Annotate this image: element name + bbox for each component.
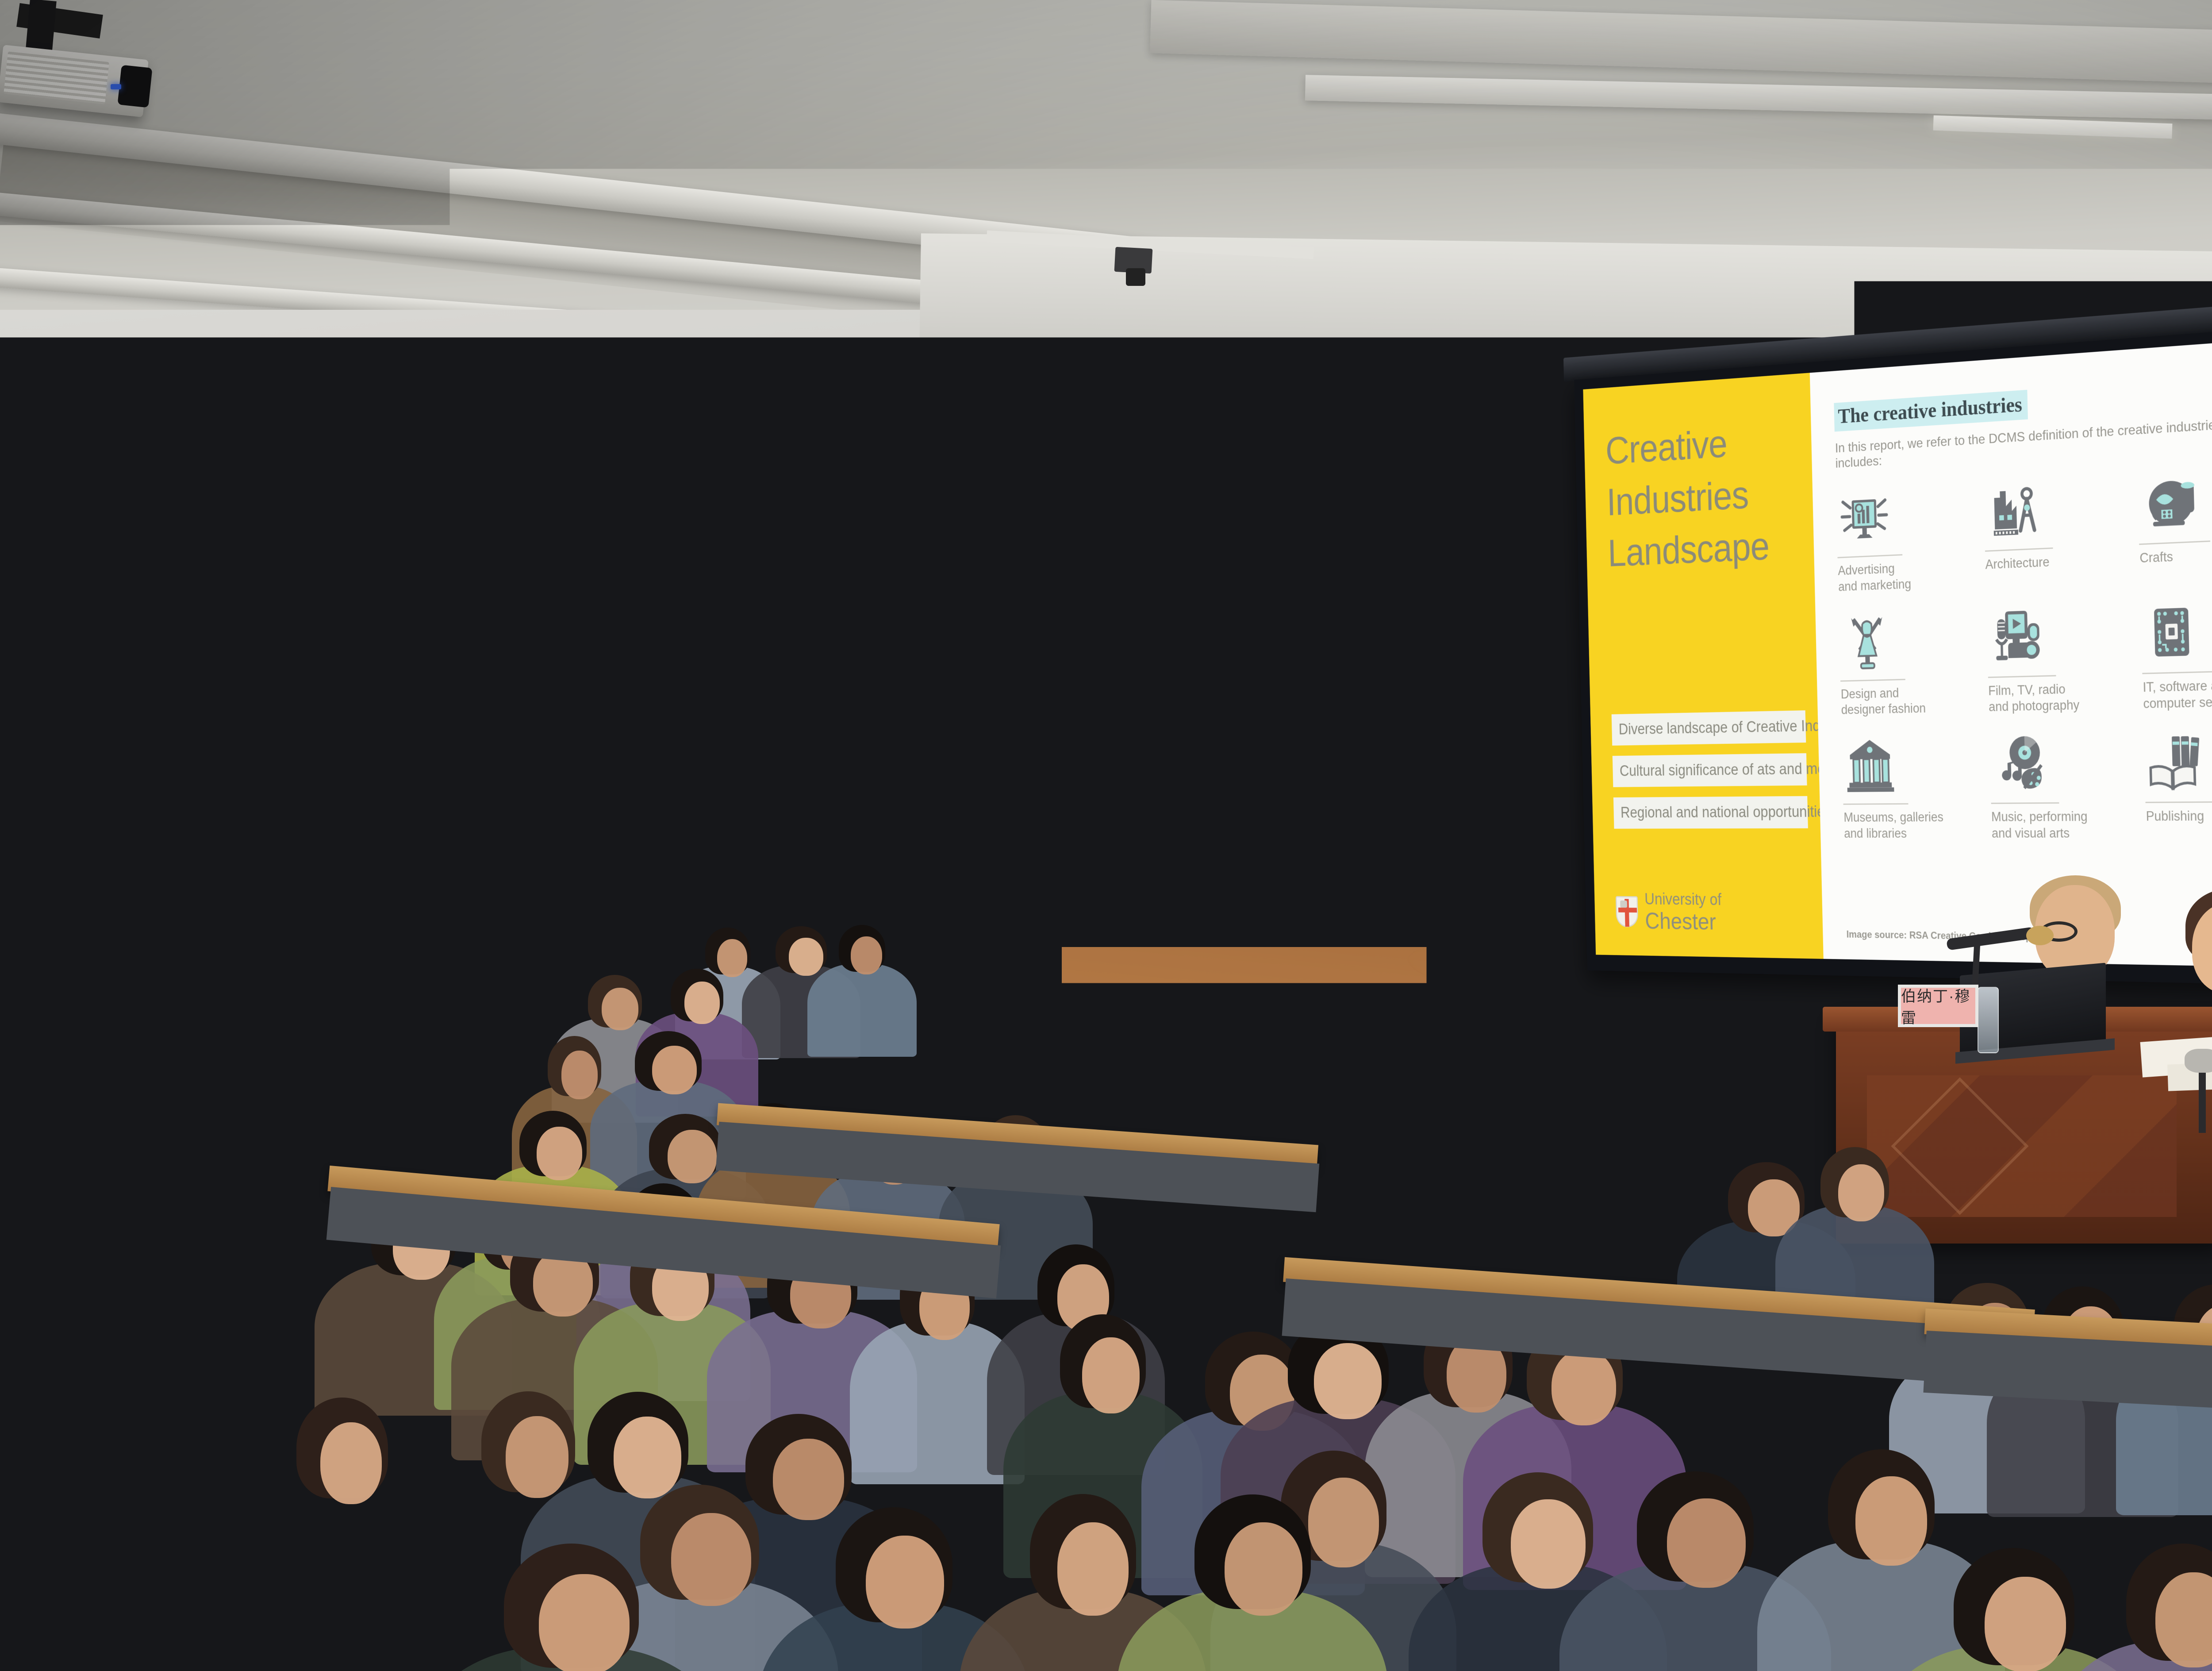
slide-left-panel: Creative Industries Landscape Diverse la… bbox=[1583, 373, 1823, 959]
audience-member-head bbox=[220, 896, 248, 931]
wall-notice-poster bbox=[1152, 673, 1188, 766]
audience-member-head bbox=[451, 1048, 491, 1097]
slide-reflection-text: CreativeIndustriesLandscape bbox=[695, 457, 862, 694]
poster-header bbox=[1236, 676, 1269, 697]
wall-speaker bbox=[438, 438, 522, 551]
industry-cell-music: Music, performingand visual arts bbox=[1989, 727, 2147, 842]
audience-member-head bbox=[717, 939, 748, 977]
industry-cell-museums: Museums, galleriesand libraries bbox=[1842, 730, 1992, 842]
cell-divider bbox=[1988, 675, 2056, 678]
audience-member-head bbox=[635, 938, 664, 976]
audience-member-head bbox=[159, 906, 185, 941]
industry-cell-film: Film, TV, radioand photography bbox=[1986, 598, 2143, 715]
cell-divider bbox=[1840, 679, 1905, 681]
poster-header bbox=[1154, 674, 1187, 696]
cell-divider bbox=[1985, 547, 2053, 552]
audience-member-head bbox=[602, 988, 638, 1030]
poster-body-text bbox=[1193, 696, 1225, 754]
audience-member-head bbox=[1355, 1040, 1395, 1086]
university-logo: University of Chester bbox=[1616, 891, 1722, 934]
slide-bullet-2: Cultural significance of ats and media bbox=[1613, 753, 1807, 787]
audience-member-head bbox=[1082, 1337, 1140, 1413]
creative-industries-grid: Advertisingand marketing bbox=[1836, 460, 2212, 842]
architecture-compass-icon bbox=[1983, 474, 2043, 544]
lecture-hall-scene: HiVi CreativeIndustriesLandscape bbox=[0, 0, 2212, 1671]
audience-member-head bbox=[1551, 1349, 1616, 1425]
presentation-slide: Creative Industries Landscape Diverse la… bbox=[1583, 335, 2212, 968]
logo-line-2: Chester bbox=[1645, 909, 1722, 934]
audience-member-head bbox=[539, 1574, 630, 1671]
screen-bezel: Creative Industries Landscape Diverse la… bbox=[1574, 323, 2212, 986]
audience-member-head bbox=[117, 988, 151, 1030]
industry-label-it: IT, software andcomputer services bbox=[2143, 677, 2212, 712]
audience-member-head bbox=[271, 982, 303, 1024]
audience-member-head bbox=[789, 938, 823, 976]
industry-cell-it: IT, software andcomputer services bbox=[2141, 592, 2212, 712]
audience-member-head bbox=[0, 1197, 53, 1260]
university-logo-text: University of Chester bbox=[1644, 891, 1722, 934]
cell-divider bbox=[2139, 540, 2211, 545]
poster-inner-panel bbox=[1278, 709, 1306, 763]
audience-member-head bbox=[1314, 1343, 1382, 1419]
audience-member-head bbox=[773, 1439, 844, 1521]
industry-label-music: Music, performingand visual arts bbox=[1991, 809, 2088, 842]
shield-cross-horizontal bbox=[1618, 908, 1637, 913]
audience-member-head bbox=[319, 894, 349, 929]
audience-member-head bbox=[1235, 1038, 1274, 1084]
audience-member-head bbox=[353, 986, 388, 1029]
poster-header bbox=[1193, 674, 1225, 696]
audience-member-body bbox=[1299, 1073, 1439, 1184]
audience-member-head bbox=[652, 1046, 697, 1094]
audience-member-head bbox=[1985, 1577, 2066, 1671]
publishing-books-icon bbox=[2144, 726, 2207, 795]
audience-member-head bbox=[668, 1130, 717, 1183]
cell-divider bbox=[2143, 671, 2212, 674]
audience-member-head bbox=[1308, 1478, 1379, 1567]
wall-award-poster bbox=[1273, 674, 1310, 769]
audience-member-head bbox=[866, 1536, 944, 1629]
audience-member-head bbox=[172, 1408, 233, 1490]
industry-label-design: Design anddesigner fashion bbox=[1840, 684, 1926, 718]
audience-member-head bbox=[255, 1198, 308, 1261]
audience-member-head bbox=[1855, 1476, 1927, 1566]
audience-member-head bbox=[104, 903, 133, 938]
advertising-chart-screen-icon bbox=[1836, 483, 1893, 551]
cell-divider bbox=[1838, 554, 1903, 558]
industry-cell-publishing: Publishing bbox=[2144, 724, 2212, 842]
audience-member-head bbox=[1057, 1522, 1129, 1616]
cell-divider bbox=[1991, 802, 2059, 804]
audience-member-head bbox=[173, 1049, 214, 1098]
audience-member-body bbox=[807, 964, 916, 1057]
logo-line-1: University of bbox=[1644, 891, 1722, 908]
audience-member-head bbox=[1114, 1047, 1154, 1092]
audience-member-head bbox=[249, 1061, 291, 1109]
slide-bullet-1: Diverse landscape of Creative Industries bbox=[1612, 710, 1806, 746]
cell-divider bbox=[2146, 801, 2212, 803]
industry-label-architecture: Architecture bbox=[1985, 554, 2050, 573]
water-bottle[interactable] bbox=[1978, 987, 1999, 1053]
window-pane bbox=[117, 420, 219, 606]
audience-member-head bbox=[1838, 1164, 1884, 1221]
industry-cell-advertising: Advertisingand marketing bbox=[1836, 477, 1986, 595]
audience-member-head bbox=[684, 982, 720, 1024]
audience-member-head bbox=[518, 981, 551, 1023]
audience-member-head bbox=[426, 985, 458, 1028]
slide-title: Creative Industries Landscape bbox=[1605, 413, 1793, 579]
microphone-head bbox=[2185, 1049, 2212, 1073]
film-camera-microphone-icon bbox=[1986, 601, 2046, 670]
window-pane bbox=[117, 615, 219, 881]
chester-shield-icon bbox=[1616, 896, 1638, 928]
industry-label-publishing: Publishing bbox=[2146, 808, 2204, 825]
audience-member-head bbox=[448, 936, 476, 974]
music-note-palette-icon bbox=[1989, 729, 2049, 796]
audience-member-head bbox=[1511, 1499, 1586, 1589]
purple-curtain bbox=[230, 389, 416, 912]
audience-member-head bbox=[320, 1422, 382, 1504]
audience-member-head bbox=[27, 1575, 115, 1671]
audience-member-head bbox=[64, 1048, 103, 1097]
window-pane bbox=[13, 420, 108, 606]
slide-title-line-2: Industries bbox=[1606, 466, 1792, 528]
window-sill bbox=[0, 867, 239, 883]
audience-member-head bbox=[851, 936, 882, 974]
projection-screen: Creative Industries Landscape Diverse la… bbox=[1574, 323, 2212, 986]
audience-member-head bbox=[37, 897, 66, 932]
it-microchip-icon bbox=[2141, 596, 2204, 666]
creative-industries-heading: The creative industries bbox=[1834, 390, 2028, 432]
audience-member-head bbox=[358, 1047, 401, 1096]
audience-member-head bbox=[671, 1513, 751, 1606]
industry-cell-crafts: Crafts bbox=[2137, 460, 2212, 584]
purple-curtain bbox=[513, 389, 690, 956]
slide-right-panel: The creative industries In this report, … bbox=[1810, 335, 2212, 968]
audience-member-head bbox=[194, 987, 229, 1030]
audience-member-head bbox=[29, 985, 63, 1027]
audience-member-head bbox=[1532, 1167, 1580, 1224]
microphone-head bbox=[2026, 926, 2054, 945]
slide-title-line-3: Landscape bbox=[1607, 519, 1793, 579]
crafts-pottery-icon bbox=[2137, 466, 2200, 537]
wall-notice-poster bbox=[1234, 674, 1271, 768]
audience-member-head bbox=[506, 1416, 569, 1498]
audience-member-head bbox=[537, 1127, 582, 1180]
industry-label-film: Film, TV, radioand photography bbox=[1988, 681, 2080, 715]
speaker-name-card: 伯纳丁·穆雷 bbox=[1898, 985, 1978, 1027]
wall-notice-poster bbox=[1191, 673, 1227, 766]
design-mannequin-icon bbox=[1839, 607, 1896, 674]
audience-member-head bbox=[614, 1417, 681, 1498]
poster-body-text bbox=[1154, 696, 1187, 754]
camera-lens bbox=[1126, 268, 1145, 286]
microphone-stem bbox=[2199, 1067, 2206, 1133]
speaker-mount-bracket bbox=[484, 549, 515, 575]
industry-label-museums: Museums, galleriesand libraries bbox=[1843, 809, 1944, 842]
museum-building-icon bbox=[1842, 731, 1899, 797]
industry-cell-design: Design anddesigner fashion bbox=[1839, 604, 1989, 718]
projector-power-led bbox=[111, 84, 121, 89]
audience-member-head bbox=[150, 1200, 204, 1263]
door-glass-panel[interactable]: CreativeIndustriesLandscape bbox=[690, 451, 867, 699]
slide-bullet-3: Regional and national opportunities bbox=[1613, 796, 1808, 829]
speaker-brand-label: HiVi bbox=[451, 516, 479, 532]
industry-label-advertising: Advertisingand marketing bbox=[1838, 560, 1912, 595]
projector-lens bbox=[117, 65, 152, 108]
industry-cell-architecture: Architecture bbox=[1983, 469, 2140, 589]
cell-divider bbox=[1843, 803, 1909, 805]
industry-label-crafts: Crafts bbox=[2139, 549, 2173, 567]
slide-bullet-list: Diverse landscape of Creative Industries… bbox=[1611, 700, 1808, 829]
shield-mitre-icon bbox=[1620, 901, 1627, 908]
audience-member-head bbox=[1500, 1043, 1537, 1088]
audience-member-head bbox=[1640, 1169, 1686, 1226]
audience-member-head bbox=[1667, 1498, 1746, 1588]
projector-vent-grille bbox=[4, 51, 109, 104]
window-pane bbox=[13, 615, 108, 881]
audience-member-head bbox=[561, 1051, 598, 1099]
poster-body-text bbox=[1236, 697, 1269, 756]
